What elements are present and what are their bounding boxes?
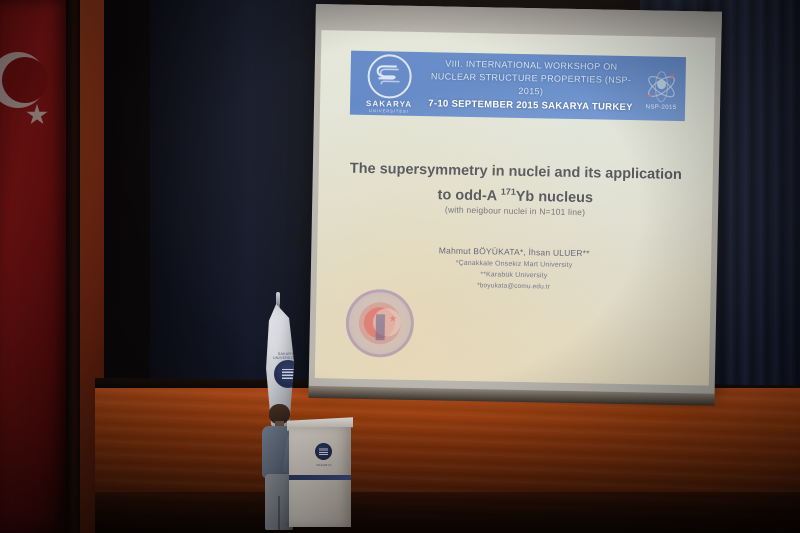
stage-front-shadow: [95, 492, 800, 533]
turkish-flag: [0, 0, 66, 533]
flag-emblem-label: SAKARYA UNIVERSITESI: [271, 352, 303, 360]
lectern-caption: SAKARYA: [309, 463, 339, 467]
sakarya-logo: SAKARYA UNIVERSITESI: [350, 51, 429, 116]
title-suffix: Yb nucleus: [516, 189, 594, 206]
banner-text-block: VIII. INTERNATIONAL WORKSHOP ON NUCLEAR …: [428, 57, 638, 115]
star-icon: [26, 104, 48, 126]
title-prefix: to odd-A: [437, 187, 500, 204]
projection-screen: SAKARYA UNIVERSITESI VIII. INTERNATIONAL…: [309, 4, 722, 396]
workshop-dates: 7-10 SEPTEMBER 2015 SAKARYA TURKEY: [428, 96, 633, 115]
university-emblem-icon: [274, 360, 302, 388]
workshop-line-2: NUCLEAR STRUCTURE PROPERTIES (NSP-2015): [428, 70, 633, 100]
auditorium-photo: SAKARYA UNIVERSITESI VIII. INTERNATIONAL…: [0, 0, 800, 533]
slide-header-banner: SAKARYA UNIVERSITESI VIII. INTERNATIONAL…: [350, 51, 686, 121]
lectern: SAKARYA: [287, 419, 353, 529]
nsp-logo: NSP-2015: [637, 56, 686, 121]
sakarya-mark-icon: [367, 54, 412, 99]
mass-number: 171: [501, 187, 516, 197]
atom-icon: [641, 66, 682, 107]
author-block: Mahmut BÖYÜKATA*, İhsan ULUER** *Çanakka…: [331, 242, 698, 295]
seal-inner: [358, 302, 401, 345]
speaker-leg-gap: [278, 496, 280, 530]
crescent-icon: [0, 52, 46, 108]
flag-edge-shadow: [66, 0, 80, 533]
lectern-stripe: [289, 475, 351, 480]
slide-surface: SAKARYA UNIVERSITESI VIII. INTERNATIONAL…: [315, 30, 716, 385]
comu-university-seal: [345, 289, 414, 358]
sakarya-submark: UNIVERSITESI: [369, 108, 409, 114]
seal-tower-icon: [376, 314, 385, 340]
lectern-logo-icon: [315, 443, 332, 460]
